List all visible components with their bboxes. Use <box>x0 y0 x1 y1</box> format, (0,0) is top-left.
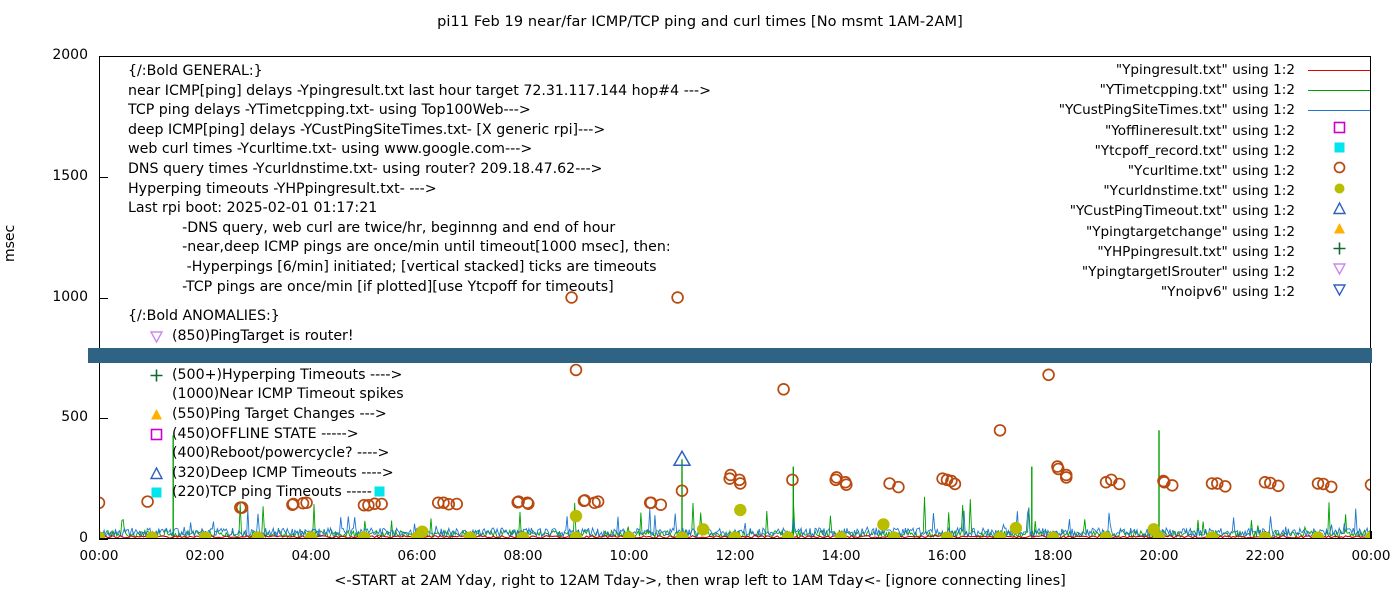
x-tick-mark <box>311 531 312 539</box>
filled-circle-icon <box>1325 181 1353 202</box>
y-tick-label: 2000 <box>0 47 88 63</box>
page-title: pi11 Feb 19 near/far ICMP/TCP ping and c… <box>0 14 1400 30</box>
legend-key-line-icon <box>1303 100 1375 120</box>
selection-band-left-tab <box>88 348 124 363</box>
y-tick-mark <box>99 56 108 57</box>
x-tick-mark <box>1159 531 1160 539</box>
x-tick-mark <box>629 531 630 539</box>
open-triangle-down-icon <box>1325 261 1353 282</box>
selection-band-right-tab <box>1336 348 1372 363</box>
legend-key-open-square-icon <box>1303 121 1375 141</box>
anomaly-row: (450)OFFLINE STATE -----> <box>128 425 404 445</box>
legend-label: "Ycurltime.txt" using 1:2 <box>1128 161 1295 181</box>
x-tick-mark <box>523 531 524 539</box>
x-tick-mark <box>1265 531 1266 539</box>
anomaly-row: (400)Reboot/powercycle? ----> <box>128 444 404 464</box>
tcp-timeout-endcap-icon <box>372 484 388 506</box>
filled-triangle-up-icon <box>1325 221 1353 242</box>
plus-icon <box>1325 241 1353 262</box>
legend-item: "YCustPingSiteTimes.txt" using 1:2 <box>905 100 1375 120</box>
anomaly-row: (550)Ping Target Changes ---> <box>128 405 404 425</box>
general-line: TCP ping delays -YTimetcpping.txt- using… <box>128 101 711 121</box>
general-line: -Hyperpings [6/min] initiated; [vertical… <box>128 258 711 278</box>
x-tick-label: 20:00 <box>1140 548 1179 564</box>
anomaly-label: (400)Reboot/powercycle? ----> <box>172 445 389 461</box>
y-tick-label: 500 <box>0 409 88 425</box>
legend-label: "Ypingtargetchange" using 1:2 <box>1086 222 1295 242</box>
open-circle-icon <box>1325 160 1353 181</box>
legend-item: "YHPpingresult.txt" using 1:2 <box>905 242 1375 262</box>
legend-label: "Ynoipv6" using 1:2 <box>1161 282 1295 302</box>
x-tick-mark <box>841 531 842 539</box>
legend-line-swatch <box>1308 90 1370 91</box>
anomaly-row: (320)Deep ICMP Timeouts ----> <box>128 464 404 484</box>
legend-key-line-icon <box>1303 80 1375 100</box>
general-line: web curl times -Ycurltime.txt- using www… <box>128 140 711 160</box>
legend-label: "Yofflineresult.txt" using 1:2 <box>1105 121 1295 141</box>
x-tick-label: 02:00 <box>186 548 225 564</box>
x-tick-mark <box>1371 531 1372 539</box>
x-tick-mark <box>735 531 736 539</box>
legend-item: "YCustPingTimeout.txt" using 1:2 <box>905 201 1375 221</box>
y-tick-mark <box>99 298 108 299</box>
anomaly-label: (500+)Hyperping Timeouts ----> <box>172 367 402 383</box>
filled-square-icon <box>1325 140 1353 161</box>
general-line: -TCP pings are once/min [if plotted][use… <box>128 278 711 298</box>
x-tick-label: 08:00 <box>504 548 543 564</box>
legend-key-plus-icon <box>1303 242 1375 262</box>
selection-band-overlay <box>88 348 1372 363</box>
x-tick-label: 00:00 <box>80 548 119 564</box>
legend-key-line-icon <box>1303 60 1375 80</box>
legend-label: "Ypingresult.txt" using 1:2 <box>1116 60 1295 80</box>
y-tick-mark <box>99 177 108 178</box>
x-tick-label: 06:00 <box>398 548 437 564</box>
x-tick-label: 00:00 <box>1352 548 1391 564</box>
x-tick-mark <box>1053 531 1054 539</box>
anomalies-heading: {/:Bold ANOMALIES:} <box>128 307 404 327</box>
anomaly-label: (1000)Near ICMP Timeout spikes <box>172 386 404 402</box>
anomaly-label: (450)OFFLINE STATE -----> <box>172 426 359 442</box>
y-tick-label: 1000 <box>0 289 88 305</box>
x-tick-label: 14:00 <box>822 548 861 564</box>
x-axis-label: <-START at 2AM Yday, right to 12AM Tday-… <box>0 573 1400 589</box>
legend-label: "YCustPingSiteTimes.txt" using 1:2 <box>1059 100 1295 120</box>
legend-key-open-circle-icon <box>1303 161 1375 181</box>
anomaly-row: (1000)Near ICMP Timeout spikes <box>128 385 404 405</box>
open-triangle-up-icon <box>1325 201 1353 222</box>
x-tick-mark <box>417 531 418 539</box>
legend-item: "Ypingresult.txt" using 1:2 <box>905 60 1375 80</box>
anomaly-label: (550)Ping Target Changes ---> <box>172 406 387 422</box>
y-tick-label: 0 <box>0 530 88 546</box>
legend-line-swatch <box>1308 70 1370 71</box>
x-tick-label: 04:00 <box>292 548 331 564</box>
legend-label: "Ycurldnstime.txt" using 1:2 <box>1103 181 1295 201</box>
general-line: -DNS query, web curl are twice/hr, begin… <box>128 219 711 239</box>
y-tick-mark <box>99 418 108 419</box>
y-tick-mark <box>99 539 108 540</box>
legend-item: "Ytcpoff_record.txt" using 1:2 <box>905 141 1375 161</box>
legend-item: "Yofflineresult.txt" using 1:2 <box>905 121 1375 141</box>
legend-item: "Ycurldnstime.txt" using 1:2 <box>905 181 1375 201</box>
general-line: DNS query times -Ycurldnstime.txt- using… <box>128 160 711 180</box>
legend-key-filled-circle-icon <box>1303 181 1375 201</box>
legend-item: "Ypingtargetchange" using 1:2 <box>905 222 1375 242</box>
legend-line-swatch <box>1308 110 1370 111</box>
general-line: Last rpi boot: 2025-02-01 01:17:21 <box>128 199 711 219</box>
open-triangle-down-icon <box>1325 282 1353 303</box>
x-tick-label: 22:00 <box>1246 548 1285 564</box>
legend-label: "YCustPingTimeout.txt" using 1:2 <box>1070 201 1295 221</box>
general-line: -near,deep ICMP pings are once/min until… <box>128 238 711 258</box>
legend-key-filled-square-icon <box>1303 141 1375 161</box>
anomaly-row: (220)TCP ping Timeouts ----- <box>128 483 404 503</box>
y-axis-label: msec <box>2 225 18 262</box>
legend-key-open-triangle-up-icon <box>1303 201 1375 221</box>
filled-square-icon <box>142 485 170 507</box>
legend-label: "YHPpingresult.txt" using 1:2 <box>1097 242 1295 262</box>
legend-item: "Ynoipv6" using 1:2 <box>905 282 1375 302</box>
x-tick-mark <box>205 531 206 539</box>
legend-item: "YTimetcpping.txt" using 1:2 <box>905 80 1375 100</box>
x-tick-label: 18:00 <box>1034 548 1073 564</box>
general-line: deep ICMP[ping] delays -YCustPingSiteTim… <box>128 121 711 141</box>
legend-label: "Ytcpoff_record.txt" using 1:2 <box>1095 141 1295 161</box>
x-tick-label: 16:00 <box>928 548 967 564</box>
legend-key-open-triangle-down-icon <box>1303 262 1375 282</box>
anomaly-label: (850)PingTarget is router! <box>172 328 354 344</box>
legend-label: "YpingtargetISrouter" using 1:2 <box>1082 262 1295 282</box>
anomaly-label: (220)TCP ping Timeouts ----- <box>172 484 372 500</box>
x-tick-label: 10:00 <box>610 548 649 564</box>
general-text-block: {/:Bold GENERAL:}near ICMP[ping] delays … <box>128 62 711 297</box>
anomaly-row: (500+)Hyperping Timeouts ----> <box>128 366 404 386</box>
legend-item: "YpingtargetISrouter" using 1:2 <box>905 262 1375 282</box>
x-tick-mark <box>947 531 948 539</box>
legend-key-filled-triangle-up-icon <box>1303 222 1375 242</box>
legend-key-open-triangle-down-icon <box>1303 282 1375 302</box>
anomalies-text-block: {/:Bold ANOMALIES:}(850)PingTarget is ro… <box>128 307 404 503</box>
anomaly-row: (850)PingTarget is router! <box>128 327 404 347</box>
general-line: near ICMP[ping] delays -Ypingresult.txt … <box>128 82 711 102</box>
general-line: Hyperping timeouts -YHPpingresult.txt- -… <box>128 180 711 200</box>
x-tick-mark <box>99 531 100 539</box>
legend-item: "Ycurltime.txt" using 1:2 <box>905 161 1375 181</box>
y-tick-label: 1500 <box>0 168 88 184</box>
x-tick-label: 12:00 <box>716 548 755 564</box>
legend: "Ypingresult.txt" using 1:2"YTimetcpping… <box>905 60 1375 302</box>
legend-label: "YTimetcpping.txt" using 1:2 <box>1100 80 1295 100</box>
anomaly-label: (320)Deep ICMP Timeouts ----> <box>172 465 394 481</box>
open-square-icon <box>1325 120 1353 141</box>
general-heading: {/:Bold GENERAL:} <box>128 62 711 82</box>
